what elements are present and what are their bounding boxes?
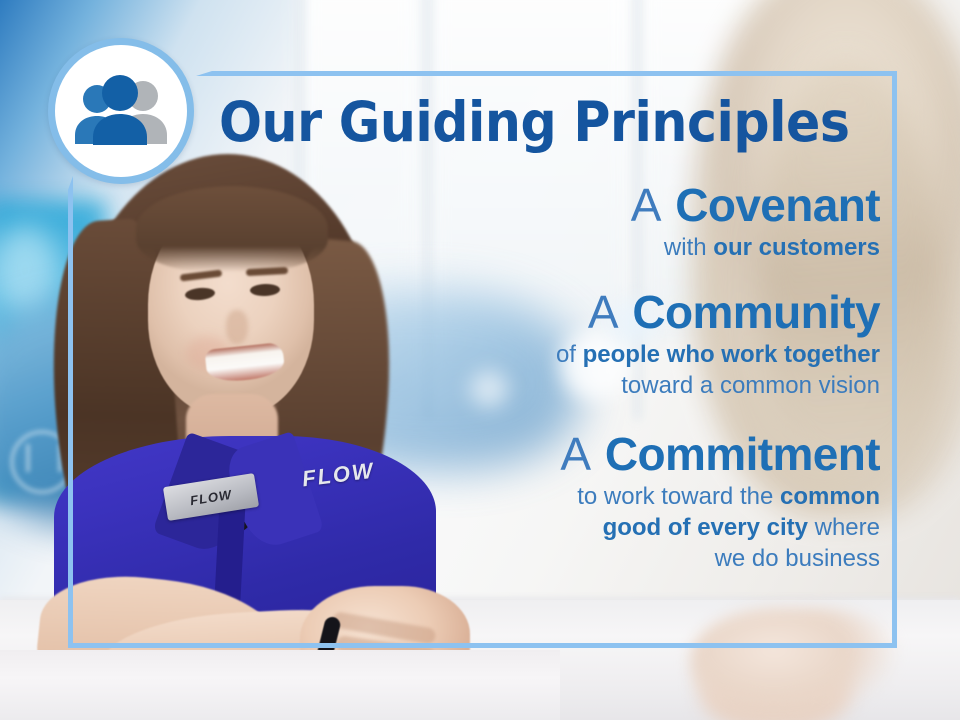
principle-article: A — [631, 179, 663, 231]
principle-heading: A Community — [180, 285, 880, 339]
frame-border-left — [68, 190, 73, 648]
principle-heading: A Covenant — [180, 178, 880, 232]
principle-article: A — [560, 428, 592, 480]
table-top — [0, 650, 560, 720]
principle-subtitle-bold: our customers — [713, 234, 880, 261]
principle-community: A Community of people who work together … — [180, 285, 880, 401]
principle-subtitle-line: we do business — [180, 543, 880, 574]
principle-subtitle-plain: with — [664, 234, 713, 261]
people-group-icon — [48, 38, 194, 184]
principle-subtitle: with our customers — [180, 232, 880, 263]
frame-border-top — [212, 71, 897, 76]
principle-subtitle-bold: people who work together — [583, 341, 880, 368]
principle-subtitle: to work toward the common good of every … — [180, 481, 880, 574]
principle-subtitle-bold: good of every city — [603, 514, 808, 541]
principle-subtitle-line: to work toward the common — [180, 481, 880, 512]
principle-commitment: A Commitment to work toward the common g… — [180, 427, 880, 574]
principle-heading: A Commitment — [180, 427, 880, 481]
blurred-customer-hand — [690, 608, 900, 720]
principle-word: Community — [632, 286, 880, 338]
principle-subtitle-plain: to work toward the — [577, 483, 780, 510]
principle-word: Commitment — [605, 428, 880, 480]
principle-subtitle: of people who work together toward a com… — [180, 339, 880, 401]
principle-subtitle-line: good of every city where — [180, 512, 880, 543]
principle-subtitle-bold: common — [780, 483, 880, 510]
frame-top-tip — [196, 71, 212, 76]
principle-subtitle-plain: of — [556, 341, 583, 368]
principle-covenant: A Covenant with our customers — [180, 178, 880, 263]
principle-subtitle-line: of people who work together — [180, 339, 880, 370]
principle-subtitle-line: toward a common vision — [180, 370, 880, 401]
principle-article: A — [588, 286, 620, 338]
principle-word: Covenant — [675, 179, 880, 231]
banner-graphic: FLOW FLOW — [0, 0, 960, 720]
principle-subtitle-plain: where — [808, 514, 880, 541]
page-title: Our Guiding Principles — [219, 93, 826, 151]
frame-border-bottom — [68, 643, 897, 648]
frame-left-tip — [68, 176, 73, 190]
principles-list: A Covenant with our customers A Communit… — [180, 178, 896, 578]
